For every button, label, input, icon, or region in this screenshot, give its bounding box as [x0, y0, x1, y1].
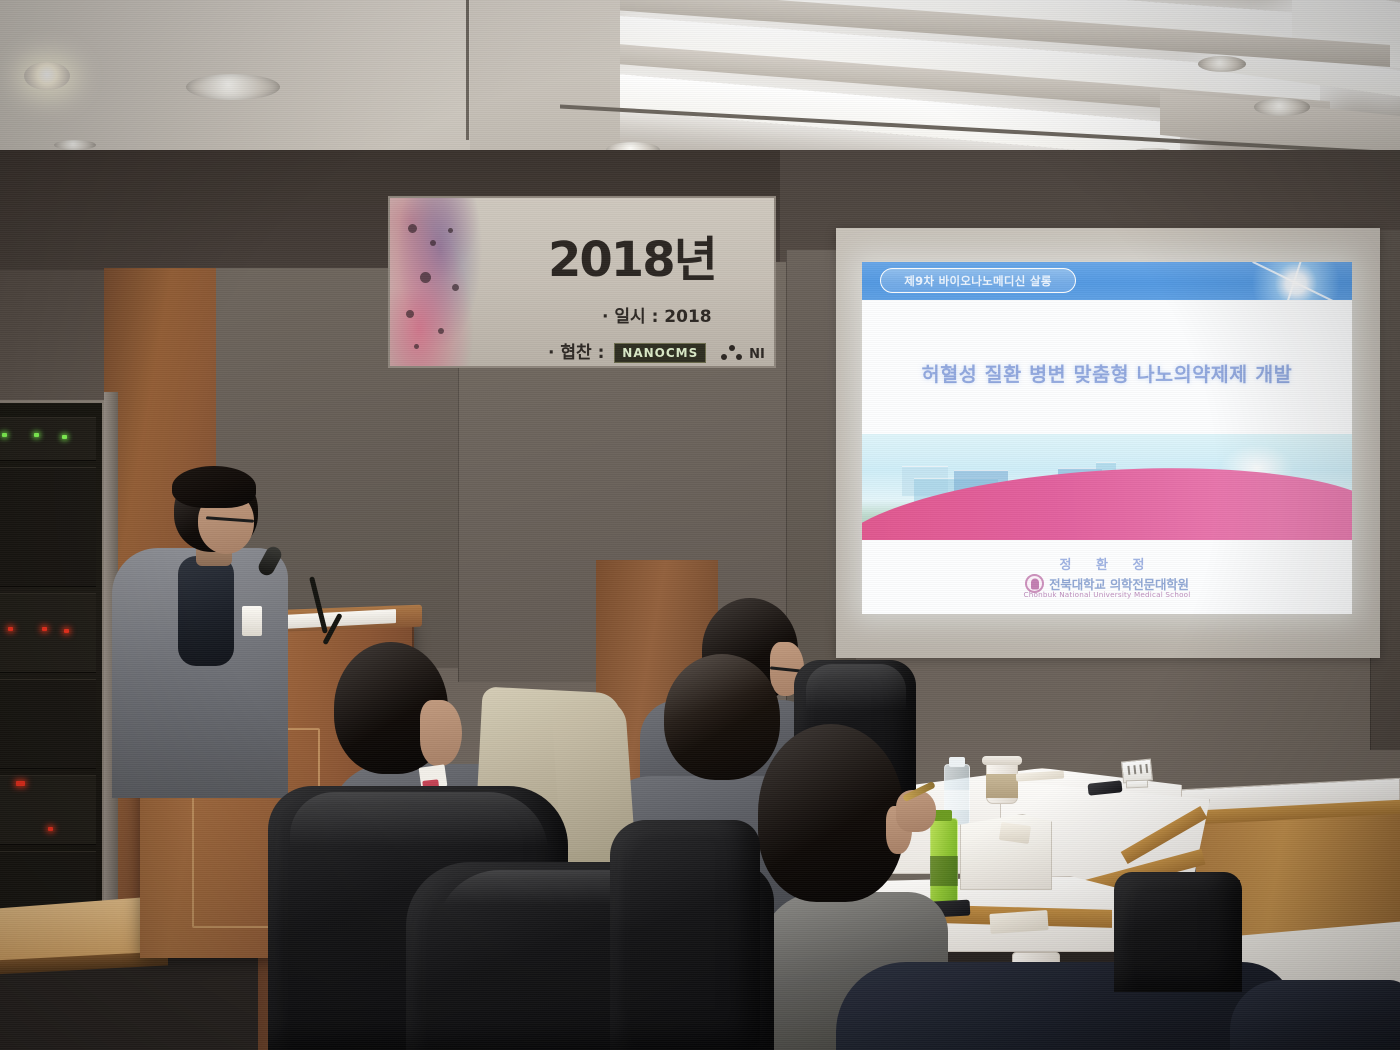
speaker-name-badge — [242, 606, 262, 636]
audience-head — [664, 654, 780, 780]
status-led-red — [42, 627, 47, 631]
nanocms-logo: NANOCMS — [614, 343, 706, 363]
slide-title: 허혈성 질환 병변 맞춤형 나노의약제제 개발 — [862, 358, 1352, 387]
affiliation-english: Chonbuk National University Medical Scho… — [862, 590, 1352, 599]
coffee-cup-sleeve — [986, 774, 1018, 798]
ceiling-downlight — [186, 74, 280, 100]
conference-chair-side — [610, 820, 760, 1050]
conference-room-photo: 2018년 · 일시 : 2018 · 협찬 : NANOCMS NI 제9차 … — [0, 0, 1400, 1050]
status-led-green — [62, 435, 67, 439]
ceiling — [0, 0, 1400, 172]
av-equipment-rack — [0, 400, 106, 920]
status-led-red — [16, 781, 25, 786]
sponsor-dots-icon — [721, 345, 743, 361]
status-led-red — [8, 627, 13, 631]
bottle-label — [944, 790, 970, 810]
speaker-hair-fringe — [172, 466, 256, 508]
status-led-green — [2, 433, 7, 437]
bottle-cap — [934, 810, 952, 821]
campus-panorama-photo — [862, 434, 1352, 540]
audience-head — [758, 724, 904, 902]
speaker-turtleneck — [178, 556, 234, 666]
banner-title: 2018년 — [548, 220, 716, 290]
ceiling-downlight — [1254, 98, 1310, 116]
ceiling-downlight — [24, 62, 70, 90]
coffee-cup-lid — [982, 756, 1022, 765]
green-tea-label — [930, 856, 958, 886]
slide-header-bar: 제9차 바이오나노메디신 살롱 — [862, 262, 1352, 300]
foreground-person-shoulder — [1230, 980, 1400, 1050]
slide-presenter-name: 정 환 정 — [862, 554, 1352, 573]
bottle-cap — [949, 757, 965, 767]
banner-sponsor-line: · 협찬 : NANOCMS NI — [548, 338, 765, 363]
sponsor-secondary: NI — [749, 347, 765, 362]
projector-lens-flare — [1246, 262, 1342, 300]
ceiling-downlight — [54, 140, 96, 150]
sponsor-label: · 협찬 : — [548, 343, 604, 363]
conference-chair-far-right — [1114, 872, 1242, 992]
status-led-red — [48, 827, 53, 831]
banner-artwork — [390, 198, 486, 366]
napkin — [989, 910, 1048, 934]
banner-date-line: · 일시 : 2018 — [602, 302, 712, 327]
slide-event-badge: 제9차 바이오나노메디신 살롱 — [880, 268, 1076, 293]
name-card-base — [1126, 780, 1148, 789]
audience-face-profile — [420, 700, 462, 766]
status-led-green — [34, 433, 39, 437]
status-led-red — [64, 629, 69, 633]
ceiling-downlight — [1198, 56, 1246, 72]
slide-content: 제9차 바이오나노메디신 살롱 허혈성 질환 병변 맞춤형 나노의약제제 개발 … — [862, 262, 1352, 614]
event-banner: 2018년 · 일시 : 2018 · 협찬 : NANOCMS NI — [388, 196, 776, 368]
